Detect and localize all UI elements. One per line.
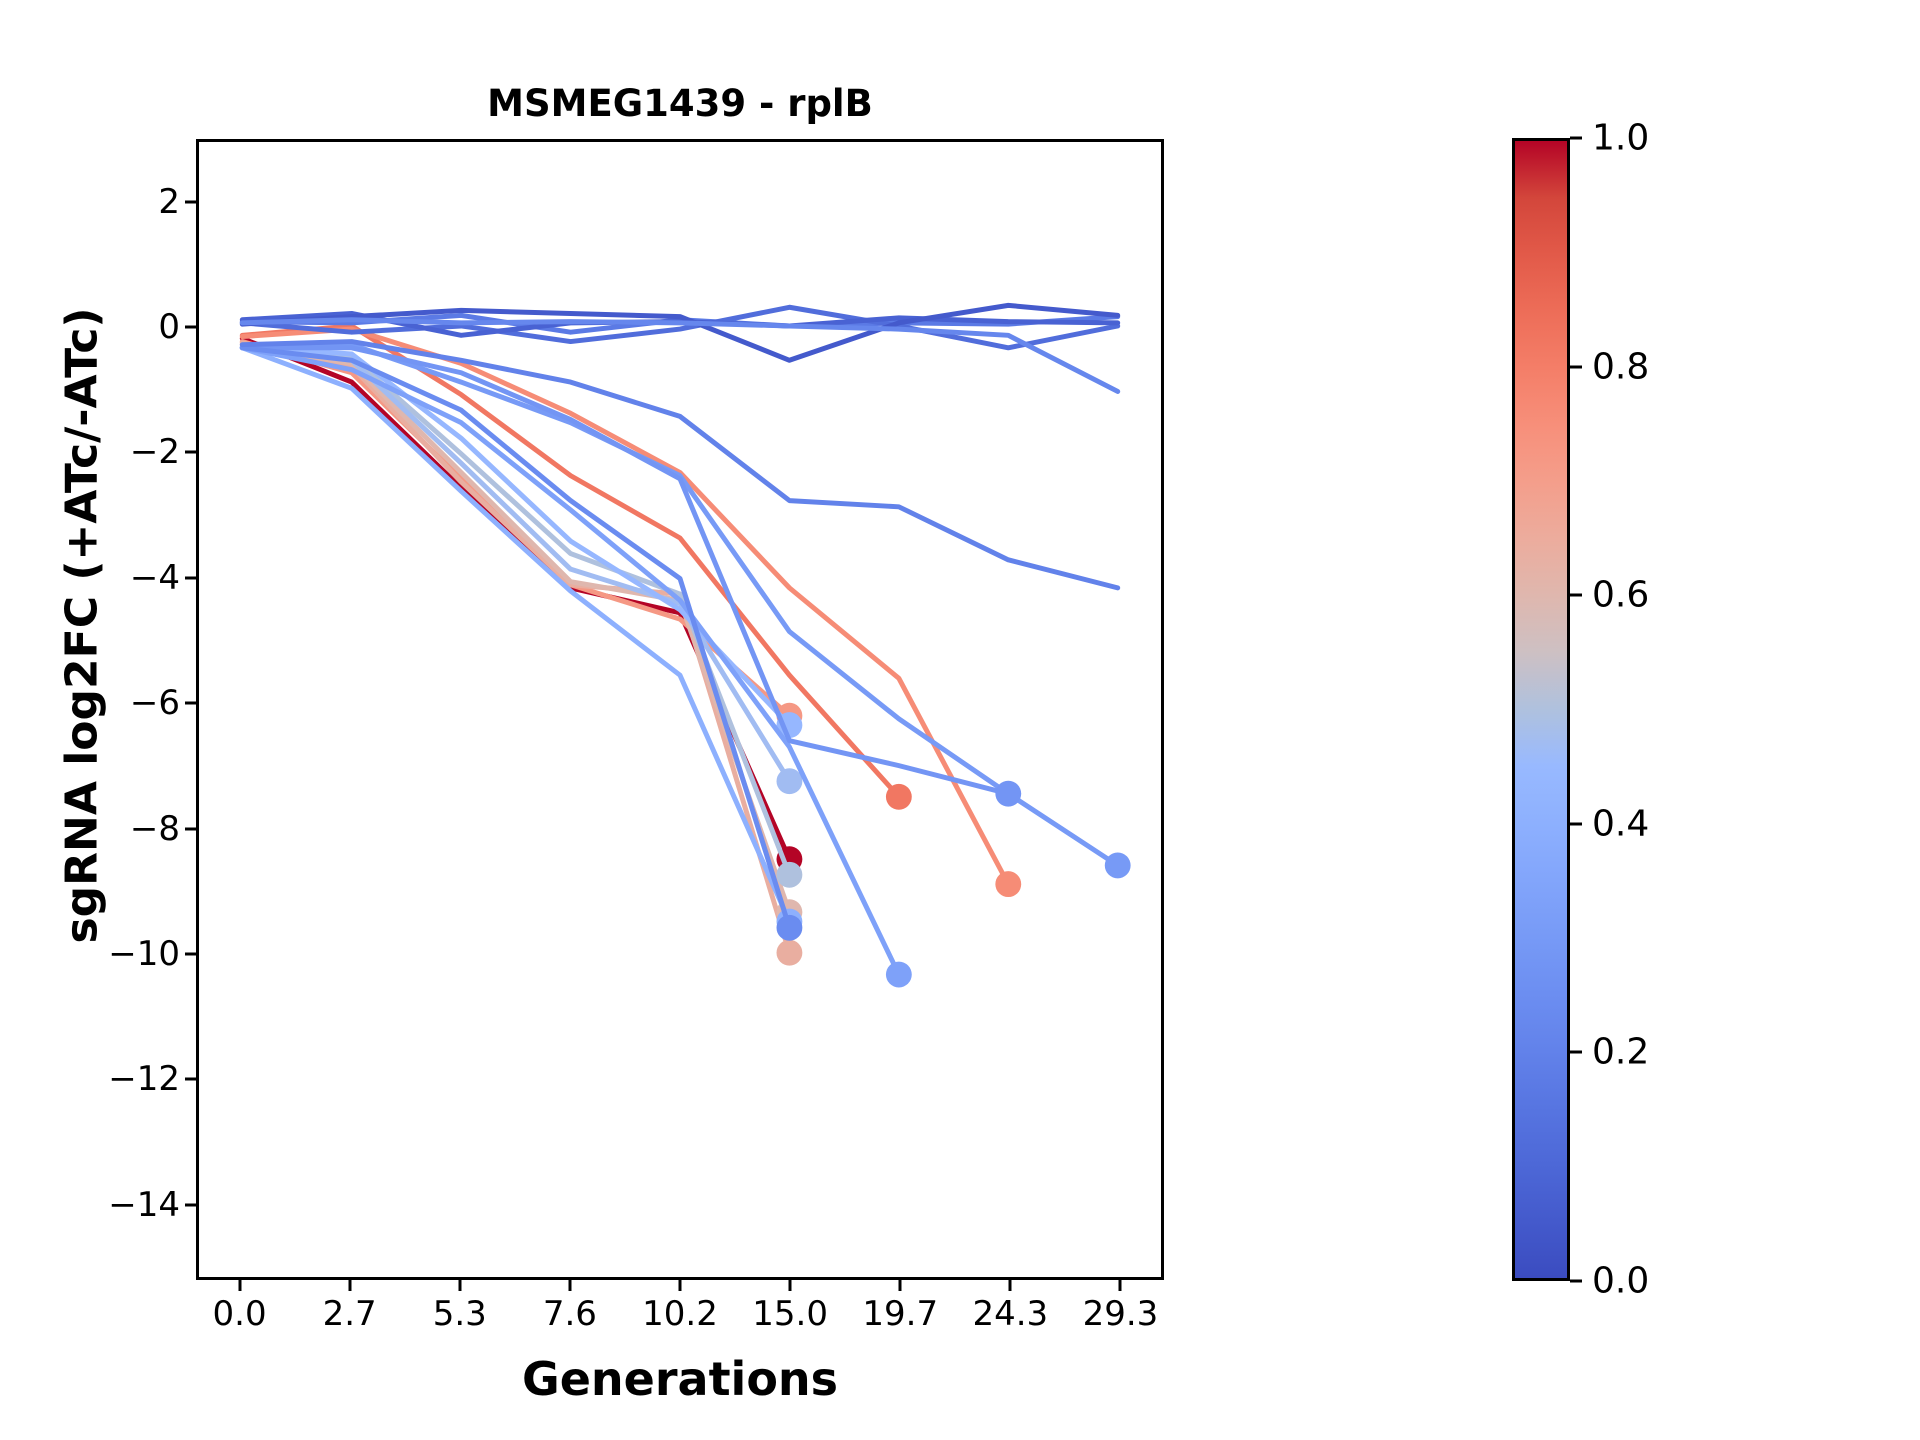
colorbar-tick-label: 0.4	[1592, 803, 1649, 844]
colorbar-tick-mark	[1570, 1051, 1582, 1054]
colorbar-tick-mark	[1570, 365, 1582, 368]
colorbar-ticks: 0.00.20.40.60.81.0	[0, 0, 1920, 1440]
colorbar-tick-mark	[1570, 1280, 1582, 1283]
colorbar-tick-label: 0.2	[1592, 1032, 1649, 1073]
colorbar-tick-label: 1.0	[1592, 118, 1649, 159]
figure-root: MSMEG1439 - rplB 20−2−4−6−8−10−12−14 0.0…	[0, 0, 1920, 1440]
colorbar-tick-label: 0.0	[1592, 1261, 1649, 1302]
colorbar-tick-mark	[1570, 822, 1582, 825]
colorbar-tick-label: 0.8	[1592, 346, 1649, 387]
colorbar-tick-label: 0.6	[1592, 575, 1649, 616]
colorbar-tick-mark	[1570, 137, 1582, 140]
colorbar-tick-mark	[1570, 594, 1582, 597]
